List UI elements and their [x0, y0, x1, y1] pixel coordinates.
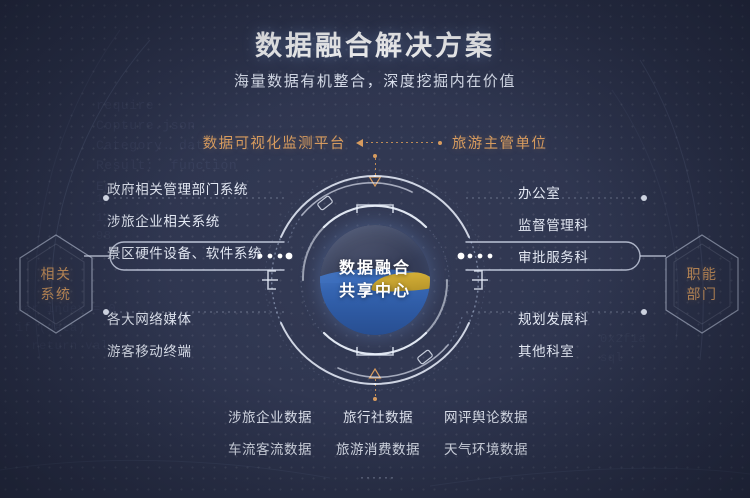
- endpoint-dot-icon: [438, 141, 442, 145]
- data-cell[interactable]: 网评舆论数据: [444, 406, 528, 426]
- page-title: 数据融合解决方案: [0, 24, 750, 63]
- visualization-platform-label: 数据可视化监测平台: [203, 132, 346, 153]
- center-label: 数据融合 共享中心: [320, 225, 430, 335]
- list-item[interactable]: 各大网络媒体: [107, 308, 192, 328]
- left-sources-bottom-list: 各大网络媒体 游客移动终端: [107, 308, 192, 360]
- right-departments-bottom-list: 规划发展科 其他科室: [518, 308, 589, 360]
- list-item[interactable]: 政府相关管理部门系统: [107, 178, 262, 198]
- right-departments-top-list: 办公室 监督管理科 审批服务科: [518, 182, 589, 266]
- page-subtitle: 海量数据有机整合，深度挖掘内在价值: [0, 70, 750, 91]
- center-label-line2: 共享中心: [339, 280, 411, 303]
- data-cell[interactable]: 旅游消费数据: [336, 438, 420, 458]
- dotted-line: [366, 142, 435, 143]
- list-item[interactable]: 审批服务科: [518, 246, 589, 266]
- data-ellipsis: ······: [228, 470, 528, 484]
- list-item[interactable]: 游客移动终端: [107, 340, 192, 360]
- tourism-authority-label: 旅游主管单位: [452, 132, 547, 153]
- left-hexagon-line2: 系统: [41, 284, 72, 304]
- flow-arrow-left-icon: [356, 137, 442, 149]
- data-cell[interactable]: 旅行社数据: [343, 406, 413, 426]
- ghost-code-text-3: 0x2f1a sql: [600, 330, 646, 367]
- outflow-dot-icon: [373, 397, 377, 401]
- center-label-line1: 数据融合: [339, 257, 411, 280]
- arrowhead-left-icon: [356, 139, 363, 147]
- right-hexagon-label: 职能 部门: [662, 232, 742, 336]
- data-cell[interactable]: 涉旅企业数据: [228, 406, 312, 426]
- left-hexagon-line1: 相关: [41, 264, 72, 284]
- left-sources-top-list: 政府相关管理部门系统 涉旅企业相关系统 景区硬件设备、软件系统: [107, 178, 262, 262]
- bottom-data-grid: 涉旅企业数据 旅行社数据 网评舆论数据 车流客流数据 旅游消费数据 天气环境数据…: [228, 406, 528, 484]
- list-item[interactable]: 办公室: [518, 182, 589, 202]
- table-row: 车流客流数据 旅游消费数据 天气环境数据: [228, 438, 528, 458]
- infographic-canvas: require Copture.json Category. dataSet R…: [0, 0, 750, 498]
- list-item[interactable]: 规划发展科: [518, 308, 589, 328]
- right-hexagon-node[interactable]: 职能 部门: [662, 232, 742, 336]
- data-cell[interactable]: 天气环境数据: [444, 438, 528, 458]
- central-hub-ring[interactable]: 数据融合 共享中心: [262, 167, 488, 393]
- top-flow-row: 数据可视化监测平台 旅游主管单位: [0, 132, 750, 153]
- list-item[interactable]: 监督管理科: [518, 214, 589, 234]
- list-item[interactable]: 景区硬件设备、软件系统: [107, 242, 262, 262]
- data-cell[interactable]: 车流客流数据: [228, 438, 312, 458]
- list-item[interactable]: 涉旅企业相关系统: [107, 210, 262, 230]
- list-item[interactable]: 其他科室: [518, 340, 589, 360]
- table-row: 涉旅企业数据 旅行社数据 网评舆论数据: [228, 406, 528, 426]
- right-hexagon-line1: 职能: [687, 264, 718, 284]
- right-hexagon-line2: 部门: [687, 284, 718, 304]
